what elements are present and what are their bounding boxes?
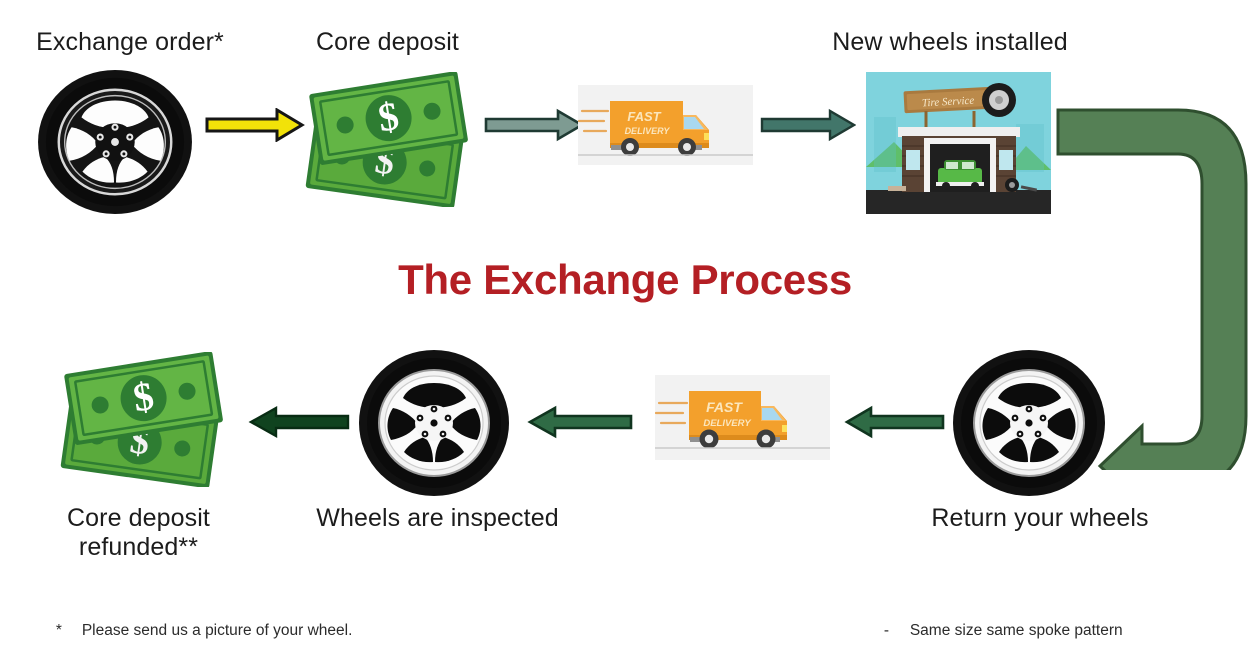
- wheel-dark-icon: [36, 68, 194, 216]
- note-marker: -: [884, 619, 910, 644]
- arrow-truck-to-inspect: [525, 405, 633, 439]
- arrow-return-to-truck: [843, 405, 945, 439]
- footnote-marker: *: [56, 619, 82, 644]
- wheel-light-icon-return: [952, 348, 1107, 498]
- svg-text:DELIVERY: DELIVERY: [703, 418, 752, 429]
- step-label-return-your-wheels: Return your wheels: [895, 504, 1185, 533]
- tire-service-shop-image: Tire Service: [866, 72, 1051, 214]
- delivery-truck-image-return: FAST DELIVERY: [655, 375, 830, 460]
- svg-text:FAST: FAST: [706, 399, 743, 415]
- money-icon-core-deposit: $ $: [303, 72, 478, 207]
- exchange-process-diagram: The Exchange Process Exchange order* Cor…: [0, 0, 1250, 666]
- step-label-new-wheels-installed: New wheels installed: [805, 28, 1095, 57]
- notes-right: -Same size same spoke pattern -No chrome…: [858, 594, 1248, 666]
- svg-text:DELIVERY: DELIVERY: [625, 126, 671, 136]
- step-label-core-deposit: Core deposit: [280, 28, 495, 57]
- step-label-exchange-order: Exchange order*: [0, 28, 260, 57]
- note-text: Same size same spoke pattern: [910, 622, 1123, 639]
- arrow-truck-to-shop: [760, 108, 856, 142]
- arrow-order-to-deposit: [205, 108, 305, 142]
- step-label-wheels-inspected: Wheels are inspected: [300, 504, 575, 533]
- arrow-inspect-to-refund: [246, 405, 350, 439]
- arrow-deposit-to-truck: [484, 108, 584, 142]
- money-icon-refund: $ $: [58, 352, 233, 487]
- footnotes-left: *Please send us a picture of your wheel.…: [30, 594, 450, 666]
- footnote-text: Please send us a picture of your wheel.: [82, 622, 353, 639]
- step-label-core-deposit-refunded: Core deposit refunded**: [26, 504, 251, 562]
- footnote-left-0: *Please send us a picture of your wheel.: [30, 594, 450, 666]
- note-right-0: -Same size same spoke pattern: [858, 594, 1248, 666]
- svg-text:FAST: FAST: [627, 109, 661, 124]
- delivery-truck-image-outbound: FAST DELIVERY: [578, 85, 753, 165]
- wheel-light-icon-inspected: [358, 348, 511, 498]
